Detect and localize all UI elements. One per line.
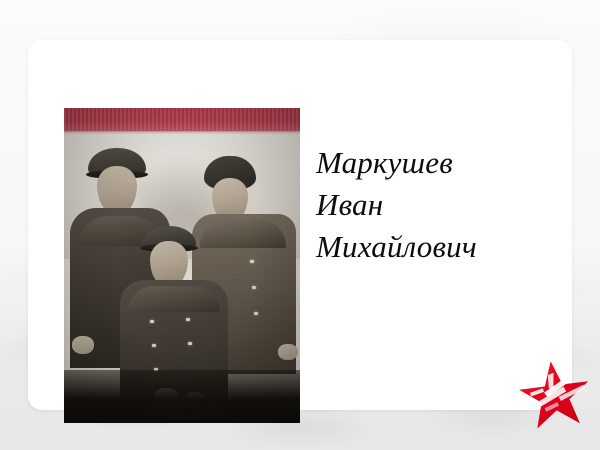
content-card: Маркушев Иван Михайлович [28, 40, 572, 410]
red-star-icon [517, 358, 593, 432]
veteran-surname: Маркушев [316, 142, 556, 184]
photo-foreground-shadow [64, 370, 300, 423]
archive-photo [64, 108, 300, 423]
photo-red-banner [64, 108, 300, 131]
memorial-slide: Маркушев Иван Михайлович [0, 0, 600, 450]
veteran-patronymic: Михайлович [316, 226, 556, 268]
veteran-given-name: Иван [316, 184, 556, 226]
veteran-name-block: Маркушев Иван Михайлович [316, 142, 556, 268]
